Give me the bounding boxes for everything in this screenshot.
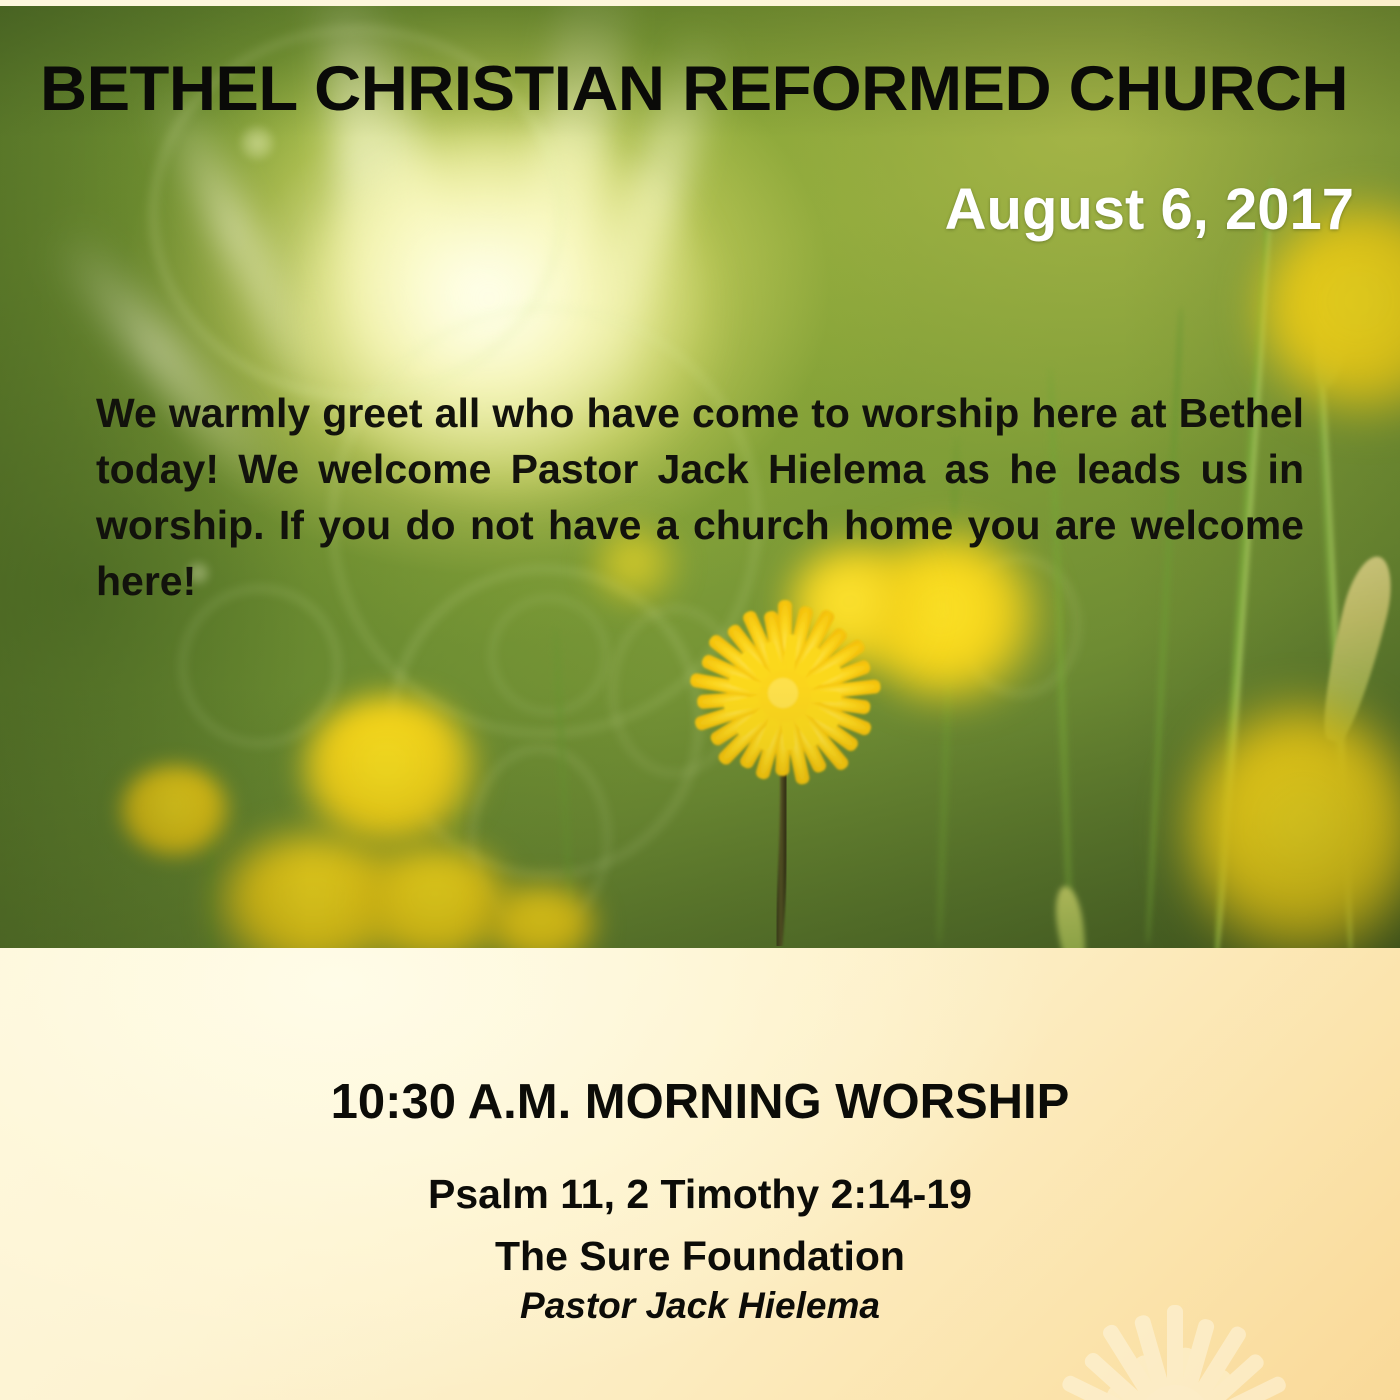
welcome-message: We warmly greet all who have come to wor… <box>96 385 1304 609</box>
lens-flare-ring <box>390 566 702 878</box>
sermon-title: The Sure Foundation <box>0 1233 1400 1280</box>
blurred-flower <box>1188 706 1400 948</box>
service-date: August 6, 2017 <box>945 176 1354 243</box>
yellow-dandelion-flower <box>672 586 902 946</box>
grass-stem <box>445 706 466 948</box>
dandelion-bud <box>1308 266 1362 390</box>
page-title: BETHEL CHRISTIAN REFORMED CHURCH <box>40 58 1400 121</box>
blurred-flower <box>218 836 408 948</box>
blurred-flower <box>360 846 510 948</box>
worship-time: 10:30 A.M. MORNING WORSHIP <box>0 1074 1400 1130</box>
lens-flare-ring <box>180 586 340 746</box>
grass-stem <box>551 626 576 948</box>
lens-flare-ring <box>470 746 610 931</box>
blurred-flower <box>486 886 596 948</box>
grass-stem <box>1308 256 1358 948</box>
preacher-name: Pastor Jack Hielema <box>0 1285 1400 1327</box>
bulletin-slide: BETHEL CHRISTIAN REFORMED CHURCH August … <box>0 0 1400 1400</box>
blurred-flower <box>120 766 230 856</box>
scripture-reference: Psalm 11, 2 Timothy 2:14-19 <box>0 1171 1400 1218</box>
lens-flare-ring <box>610 606 740 776</box>
blurred-flower <box>300 696 480 846</box>
bokeh-dot <box>240 126 274 160</box>
lens-flare-ring <box>490 596 608 714</box>
dandelion-bud <box>1312 551 1400 746</box>
grass-stem <box>206 766 216 948</box>
dandelion-bud <box>1052 885 1090 948</box>
